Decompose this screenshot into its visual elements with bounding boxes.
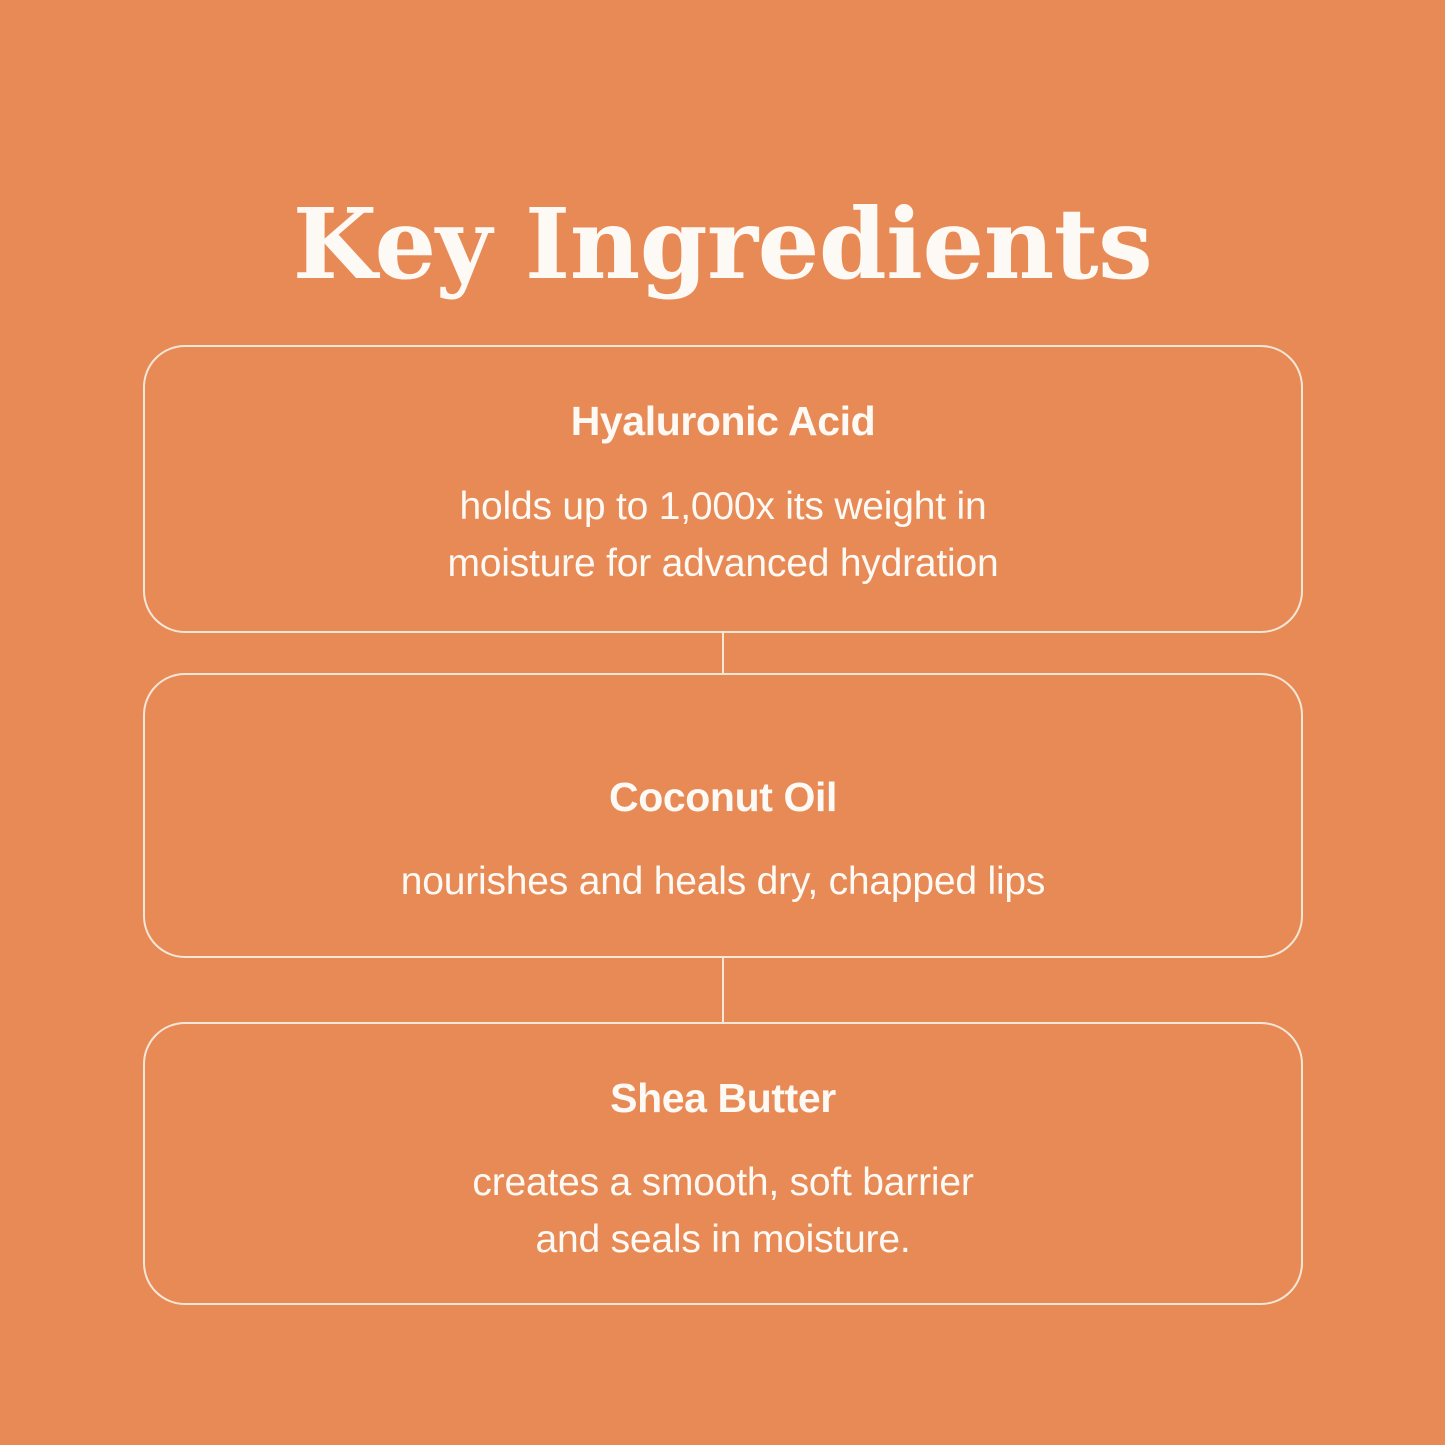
ingredient-name: Hyaluronic Acid [145,399,1301,445]
ingredient-card-stack: Hyaluronic Acid holds up to 1,000x its w… [143,345,1303,1305]
key-ingredients-infographic: Key Ingredients Hyaluronic Acid holds up… [0,0,1445,1445]
ingredient-description-line-1: nourishes and heals dry, chapped lips [145,853,1301,910]
page-title: Key Ingredients [0,196,1445,293]
connector-line-1 [722,633,724,673]
ingredient-name-wrapper: Coconut Oil [145,775,1301,821]
ingredient-card-shea-butter[interactable]: Shea Butter creates a smooth, soft barri… [143,1022,1303,1305]
ingredient-name: Shea Butter [145,1076,1301,1122]
ingredient-description-wrapper: creates a smooth, soft barrier and seals… [145,1154,1301,1268]
connector-line-2 [722,958,724,1022]
ingredient-description-line-2: and seals in moisture. [145,1211,1301,1268]
ingredient-description-line-2: moisture for advanced hydration [145,535,1301,592]
ingredient-description-line-1: holds up to 1,000x its weight in [145,478,1301,535]
ingredient-description-wrapper: nourishes and heals dry, chapped lips [145,853,1301,910]
ingredient-card-hyaluronic-acid[interactable]: Hyaluronic Acid holds up to 1,000x its w… [143,345,1303,633]
ingredient-description-line-1: creates a smooth, soft barrier [145,1154,1301,1211]
ingredient-description-wrapper: holds up to 1,000x its weight in moistur… [145,478,1301,592]
ingredient-card-coconut-oil[interactable]: Coconut Oil nourishes and heals dry, cha… [143,673,1303,958]
ingredient-name: Coconut Oil [145,775,1301,821]
ingredient-name-wrapper: Hyaluronic Acid [145,399,1301,445]
ingredient-name-wrapper: Shea Butter [145,1076,1301,1122]
